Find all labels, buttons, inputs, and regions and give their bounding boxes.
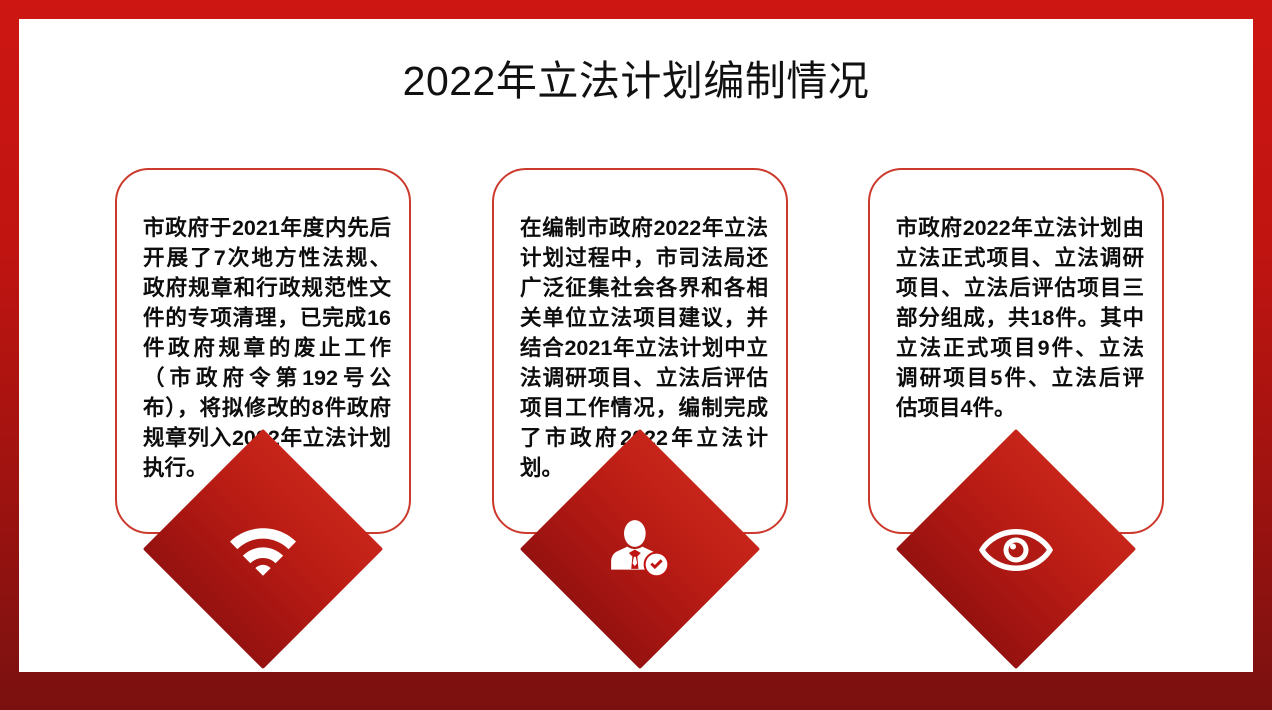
card-body-text: 市政府2022年立法计划由立法正式项目、立法调研项目、立法后评估项目三部分组成，… — [896, 213, 1144, 423]
info-card[interactable]: 在编制市政府2022年立法计划过程中，市司法局还广泛征集社会各界和各相关单位立法… — [492, 168, 788, 628]
info-card[interactable]: 市政府2022年立法计划由立法正式项目、立法调研项目、立法后评估项目三部分组成，… — [868, 168, 1164, 628]
slide-canvas: 2022年立法计划编制情况 市政府于2021年度内先后开展了7次地方性法规、政府… — [19, 19, 1253, 672]
card-row: 市政府于2021年度内先后开展了7次地方性法规、政府规章和行政规范性文件的专项清… — [19, 19, 1253, 672]
slide-root: 2022年立法计划编制情况 市政府于2021年度内先后开展了7次地方性法规、政府… — [0, 0, 1272, 710]
info-card[interactable]: 市政府于2021年度内先后开展了7次地方性法规、政府规章和行政规范性文件的专项清… — [115, 168, 411, 628]
